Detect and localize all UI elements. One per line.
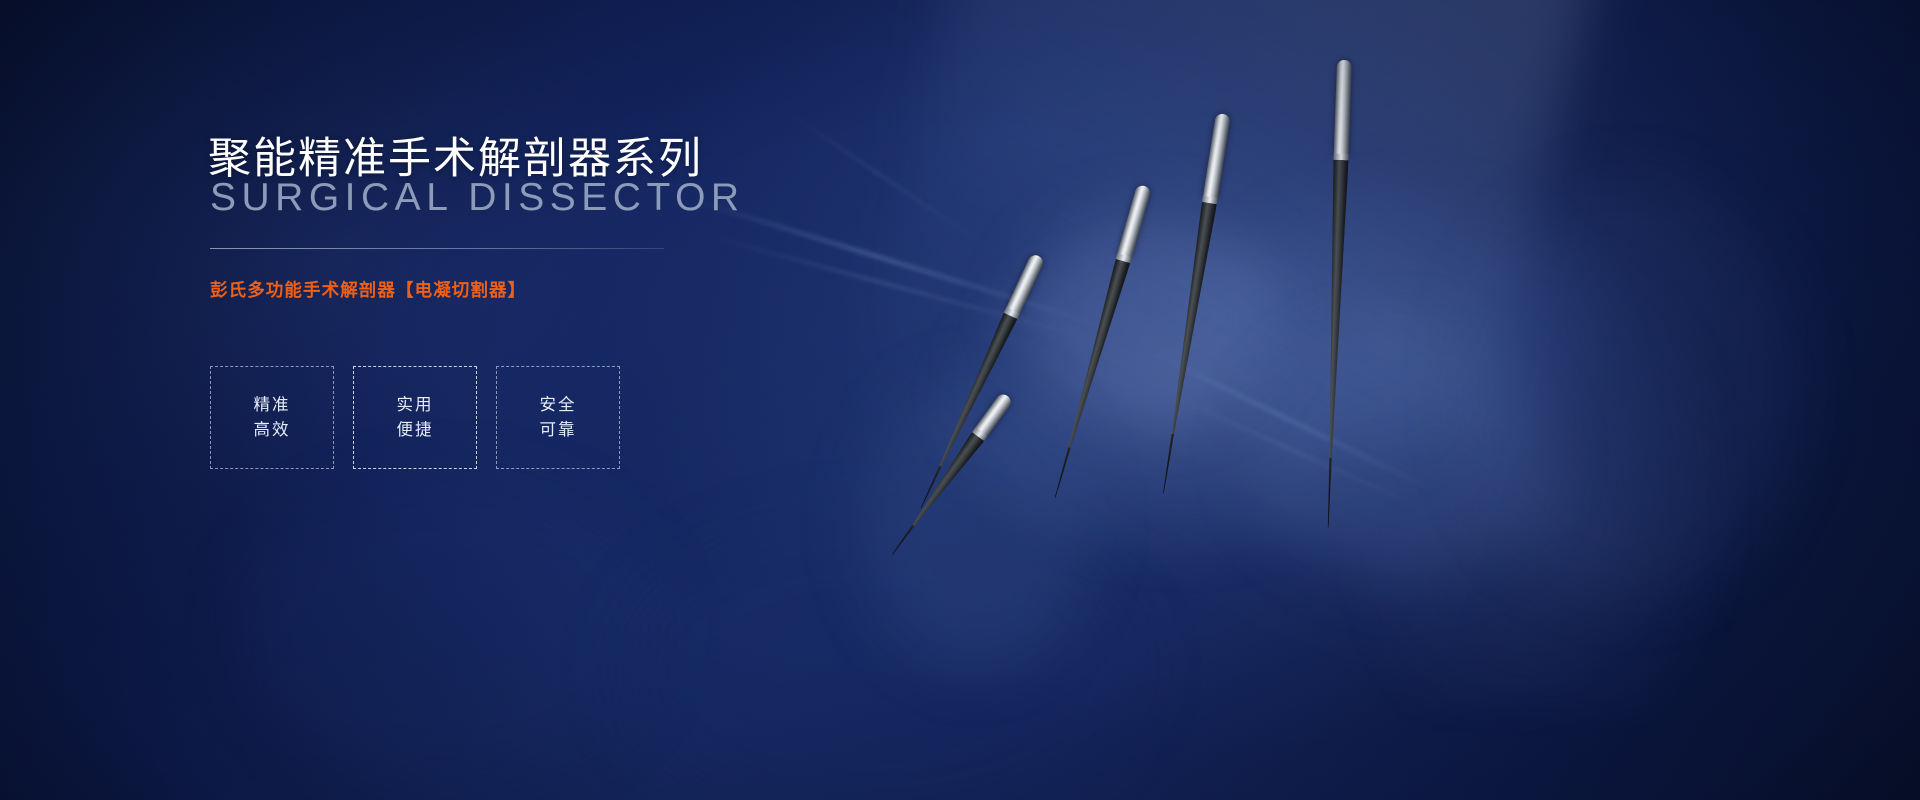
feature-box-precision[interactable]: 精准 高效: [210, 366, 334, 469]
title-divider: [210, 248, 664, 249]
product-tagline: 彭氏多功能手术解剖器【电凝切割器】: [210, 277, 526, 302]
feature-box-practical[interactable]: 实用 便捷: [353, 366, 477, 469]
promo-banner: 聚能精准手术解剖器系列 SURGICAL DISSECTOR 彭氏多功能手术解剖…: [0, 0, 1920, 800]
page-subtitle-english: SURGICAL DISSECTOR: [210, 176, 745, 220]
feature-label-line1: 精准: [254, 397, 291, 414]
feature-label-line2: 便捷: [397, 422, 434, 439]
banner-content: 聚能精准手术解剖器系列 SURGICAL DISSECTOR 彭氏多功能手术解剖…: [208, 0, 908, 800]
feature-label-line2: 高效: [254, 422, 291, 439]
feature-label-line1: 安全: [540, 397, 577, 414]
feature-box-group: 精准 高效 实用 便捷 安全 可靠: [210, 366, 620, 469]
feature-label-line2: 可靠: [540, 422, 577, 439]
feature-box-safety[interactable]: 安全 可靠: [496, 366, 620, 469]
feature-label-line1: 实用: [397, 397, 434, 414]
